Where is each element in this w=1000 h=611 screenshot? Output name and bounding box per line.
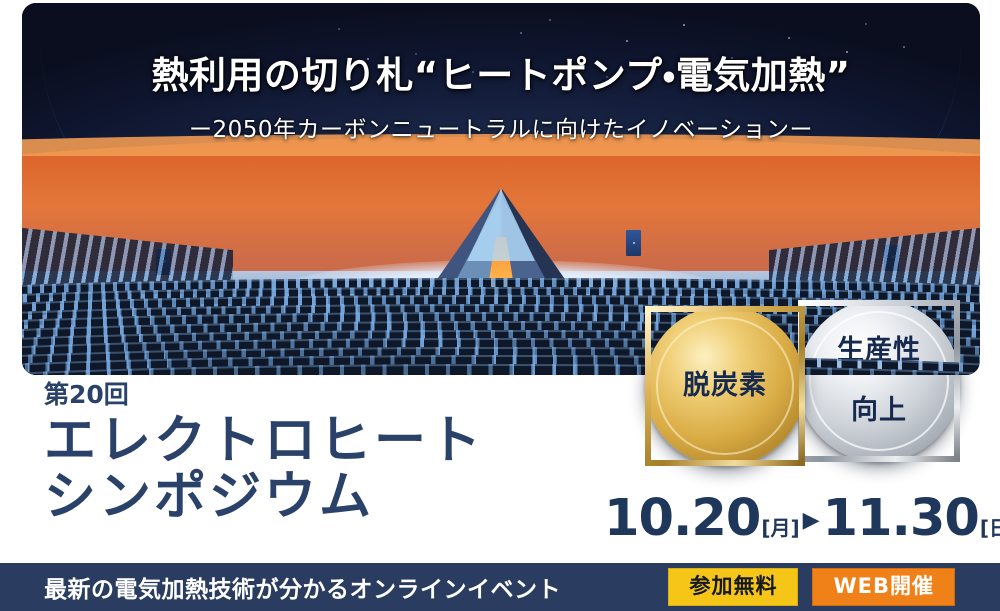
badge-web-event: WEB開催 — [812, 568, 955, 605]
hero-title: 熱利用の切り札“ヒートポンプ・電気加熱” — [22, 55, 980, 96]
badge-decarbonization: 脱炭素 — [645, 306, 805, 466]
event-date-range: 10.20 [月] ▶ 11.30 [日] — [604, 489, 1000, 548]
hero-text-block: 熱利用の切り札“ヒートポンプ・電気加熱” ー2050年カーボンニュートラルに向け… — [22, 55, 980, 144]
badge-productivity-line2: 向上 — [837, 396, 921, 426]
badge-free-admission: 参加無料 — [668, 568, 798, 605]
event-name: エレクトロヒート シンポジウム — [44, 413, 484, 525]
event-name-line1: エレクトロヒート — [44, 411, 484, 471]
hero-subtitle: ー2050年カーボンニュートラルに向けたイノベーションー — [22, 110, 980, 144]
bottom-bar-badges: 参加無料 WEB開催 — [668, 568, 955, 605]
event-banner: 熱利用の切り札“ヒートポンプ・電気加熱” ー2050年カーボンニュートラルに向け… — [0, 0, 1000, 611]
date-end: 11.30 — [823, 489, 979, 548]
badge-productivity: 生産性 向上 — [798, 300, 960, 462]
bottom-info-bar: 最新の電気加熱技術が分かるオンラインイベント 参加無料 WEB開催 — [0, 563, 1000, 611]
badge-decarbonization-label: 脱炭素 — [683, 371, 767, 401]
date-end-dow: [日] — [980, 512, 1000, 541]
wall-door-mid — [626, 230, 641, 256]
edition-number: 第20回 — [44, 382, 484, 407]
pyramid-apex-glass — [467, 189, 535, 261]
badge-productivity-label: 生産性 向上 — [837, 336, 921, 427]
event-name-line2: シンポジウム — [44, 469, 484, 525]
bottom-bar-text: 最新の電気加熱技術が分かるオンラインイベント — [44, 570, 561, 604]
date-start: 10.20 — [604, 489, 760, 548]
date-arrow-icon: ▶ — [803, 508, 820, 533]
event-title-block: 第20回 エレクトロヒート シンポジウム — [44, 382, 484, 525]
date-start-dow: [月] — [761, 512, 799, 541]
